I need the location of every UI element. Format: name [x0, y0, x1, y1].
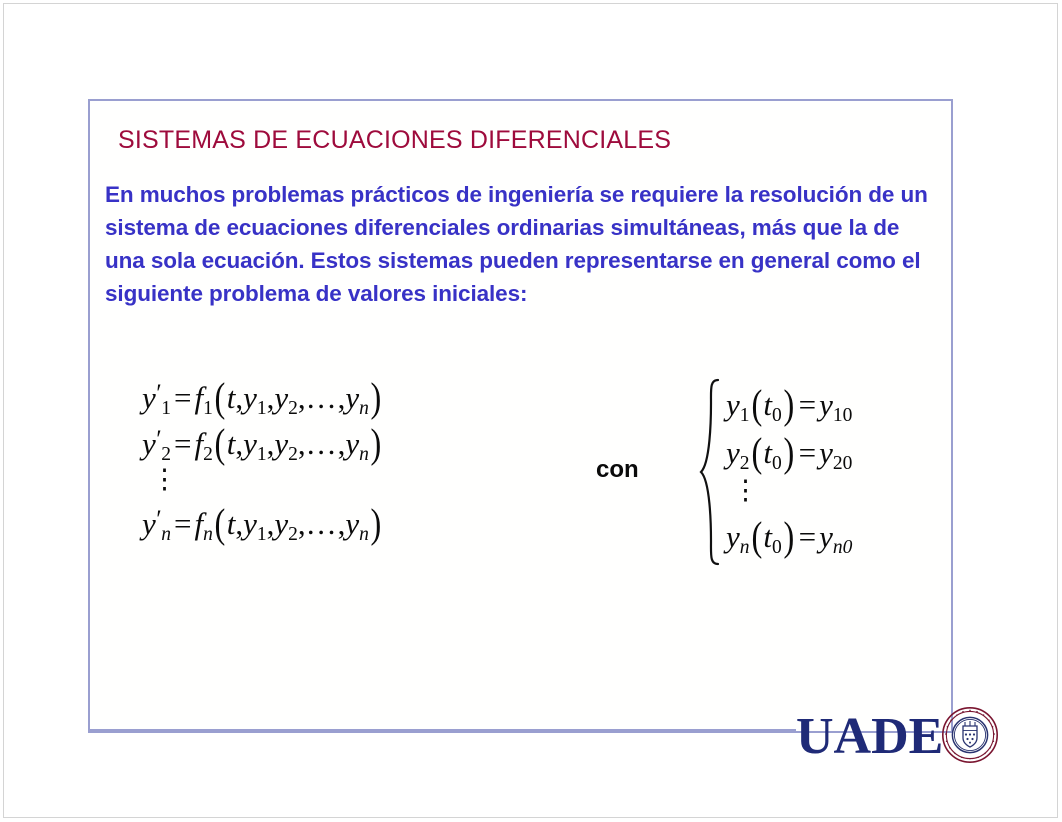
prime-mark: ′: [155, 426, 160, 453]
paren-close: ): [783, 380, 794, 428]
ic-variable: y: [726, 435, 740, 470]
comma: ,: [298, 506, 306, 541]
horizontal-ellipsis: …: [306, 506, 338, 541]
initial-condition-row: yn(t0)=yn0: [726, 509, 852, 557]
equals-sign: =: [171, 506, 194, 541]
lhs-variable: y: [142, 506, 156, 541]
ic-value-variable: y: [819, 387, 833, 422]
ic-argument: t: [763, 519, 772, 554]
page-title: SISTEMAS DE ECUACIONES DIFERENCIALES: [118, 126, 671, 155]
ic-value-variable: y: [819, 435, 833, 470]
paren-open: (: [214, 500, 225, 546]
arg-yn: yn: [345, 426, 369, 461]
rhs-function: f: [194, 380, 203, 415]
slide-frame: SISTEMAS DE ECUACIONES DIFERENCIALES En …: [88, 99, 953, 733]
ic-variable-subscript: 1: [740, 405, 750, 426]
arg-yn: yn: [345, 506, 369, 541]
paren-open: (: [751, 512, 762, 560]
ic-argument: t: [763, 387, 772, 422]
comma: ,: [235, 380, 243, 415]
vertical-ellipsis: ⋮: [151, 462, 178, 496]
ic-argument-subscript: 0: [772, 537, 782, 558]
page-sheet: SISTEMAS DE ECUACIONES DIFERENCIALES En …: [3, 3, 1058, 818]
paren-close: ): [783, 512, 794, 560]
equals-sign: =: [796, 387, 819, 422]
arg-y2: y2: [274, 380, 298, 415]
paren-open: (: [214, 420, 225, 466]
equals-sign: =: [171, 426, 194, 461]
prime-mark: ′: [155, 380, 160, 407]
rhs-subscript: 1: [203, 398, 213, 419]
ode-system-block: y′1=f1(t,y1,y2,…,yn) y′2=f2(t,y1,y2,…,yn…: [142, 371, 542, 543]
con-connector-label: con: [596, 456, 639, 484]
paren-close: ): [783, 428, 794, 476]
equals-sign: =: [171, 380, 194, 415]
footer-divider-rule: [90, 729, 796, 731]
rhs-function: f: [194, 506, 203, 541]
paren-close: ): [370, 374, 381, 420]
ic-argument-subscript: 0: [772, 453, 782, 474]
initial-conditions-list: y1(t0)=y10 y2(t0)=y20 ⋮ yn(t0)=yn0: [726, 377, 852, 567]
arg-y2: y2: [274, 506, 298, 541]
ic-value-subscript: n0: [833, 537, 853, 558]
initial-condition-row: y1(t0)=y10: [726, 377, 852, 425]
ic-variable: y: [726, 519, 740, 554]
math-region: y′1=f1(t,y1,y2,…,yn) y′2=f2(t,y1,y2,…,yn…: [90, 371, 951, 601]
slide-body-paragraph: En muchos problemas prácticos de ingenie…: [105, 178, 945, 310]
paren-close: ): [370, 500, 381, 546]
ic-value-subscript: 20: [833, 453, 853, 474]
paren-open: (: [751, 428, 762, 476]
rhs-subscript: 2: [203, 444, 213, 465]
comma: ,: [235, 426, 243, 461]
comma: ,: [298, 426, 306, 461]
ic-vertical-ellipsis-row: ⋮: [726, 473, 852, 509]
initial-condition-row: y2(t0)=y20: [726, 425, 852, 473]
arg-y2: y2: [274, 426, 298, 461]
rhs-function: f: [194, 426, 203, 461]
arg-y1: y1: [243, 426, 267, 461]
ode-equation-row: y′1=f1(t,y1,y2,…,yn): [142, 371, 542, 417]
curly-brace-icon: [698, 377, 722, 567]
equals-sign: =: [796, 435, 819, 470]
arg-y1: y1: [243, 506, 267, 541]
ic-argument-subscript: 0: [772, 405, 782, 426]
initial-conditions-block: y1(t0)=y10 y2(t0)=y20 ⋮ yn(t0)=yn0: [698, 377, 852, 567]
uade-seal-icon: [941, 706, 999, 769]
ode-equation-row: y′2=f2(t,y1,y2,…,yn): [142, 417, 542, 463]
ic-variable-subscript: n: [740, 537, 750, 558]
ic-value-variable: y: [819, 519, 833, 554]
lhs-subscript: n: [161, 524, 171, 545]
vertical-ellipsis: ⋮: [732, 472, 759, 508]
lhs-variable: y: [142, 380, 156, 415]
paren-close: ): [370, 420, 381, 466]
uade-wordmark: UADE: [796, 711, 943, 763]
horizontal-ellipsis: …: [306, 426, 338, 461]
horizontal-ellipsis: …: [306, 380, 338, 415]
ic-variable: y: [726, 387, 740, 422]
paren-open: (: [751, 380, 762, 428]
uade-logo: UADE: [796, 704, 999, 769]
equals-sign: =: [796, 519, 819, 554]
ode-equation-row: y′n=fn(t,y1,y2,…,yn): [142, 497, 542, 543]
paren-open: (: [214, 374, 225, 420]
rhs-subscript: n: [203, 524, 213, 545]
big-brace-wrapper: [698, 377, 722, 567]
comma: ,: [298, 380, 306, 415]
ic-argument: t: [763, 435, 772, 470]
lhs-variable: y: [142, 426, 156, 461]
ode-vertical-ellipsis-row: ⋮: [142, 463, 542, 497]
arg-y1: y1: [243, 380, 267, 415]
prime-mark: ′: [155, 506, 160, 533]
ic-value-subscript: 10: [833, 405, 853, 426]
lhs-subscript: 1: [161, 398, 171, 419]
arg-yn: yn: [345, 380, 369, 415]
comma: ,: [235, 506, 243, 541]
